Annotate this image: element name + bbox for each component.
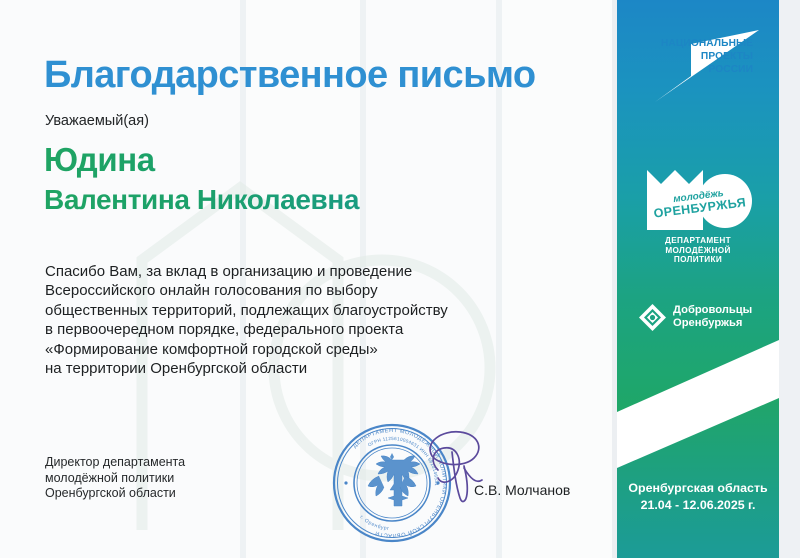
- page-title: Благодарственное письмо: [44, 54, 535, 97]
- greeting-text: Уважаемый(ая): [45, 113, 149, 129]
- body-text: Спасибо Вам, за вклад в организацию и пр…: [45, 262, 575, 378]
- branding-ribbon: НАЦИОНАЛЬНЫЕ ПРОЕКТЫ РОССИИ молодёжь ОРЕ…: [617, 0, 779, 558]
- footer-date-range: 21.04 - 12.06.2025 г.: [617, 497, 779, 514]
- mo-logo-caption: ДЕПАРТАМЕНТ МОЛОДЁЖНОЙ ПОЛИТИКИ: [617, 236, 779, 265]
- body-line: в первоочередном порядке, федерального п…: [45, 320, 575, 339]
- signer-role-line: Директор департамента: [45, 455, 185, 471]
- certificate-content: Благодарственное письмо Уважаемый(ая) Юд…: [0, 0, 617, 558]
- handwritten-signature-icon: [418, 424, 508, 514]
- mo-caption-line: ДЕПАРТАМЕНТ: [617, 236, 779, 246]
- signer-role: Директор департамента молодёжной политик…: [45, 455, 185, 502]
- np-line-2: ПРОЕКТЫ: [701, 51, 753, 62]
- np-line-1: НАЦИОНАЛЬНЫЕ: [661, 38, 753, 49]
- mo-caption-line: ПОЛИТИКИ: [617, 255, 779, 265]
- volunteers-logo-text: Добровольцы Оренбуржья: [673, 304, 752, 329]
- volunteers-line: Оренбуржья: [673, 317, 752, 330]
- recipient-surname: Юдина: [44, 140, 604, 180]
- body-line: Всероссийского онлайн голосования по выб…: [45, 281, 575, 300]
- footer-region: Оренбургская область: [617, 480, 779, 497]
- signer-role-line: молодёжной политики: [45, 471, 185, 487]
- recipient-fullname: Валентина Николаевна: [44, 180, 604, 220]
- signer-name: С.В. Молчанов: [474, 482, 570, 498]
- ribbon-bottom-segment: [617, 398, 779, 558]
- certificate-page: Благодарственное письмо Уважаемый(ая) Юд…: [0, 0, 800, 558]
- volunteers-logo: Добровольцы Оренбуржья: [639, 300, 761, 334]
- diamond-volunteers-icon: [639, 304, 666, 331]
- mo-monogram-icon: молодёжь ОРЕНБУРЖЬЯ: [645, 168, 753, 230]
- mo-caption-line: МОЛОДЁЖНОЙ: [617, 246, 779, 256]
- signer-role-line: Оренбургской области: [45, 486, 185, 502]
- body-line: Спасибо Вам, за вклад в организацию и пр…: [45, 262, 575, 281]
- background-band: [779, 0, 800, 558]
- ribbon-footer: Оренбургская область 21.04 - 12.06.2025 …: [617, 480, 779, 514]
- body-line: «Формирование комфортной городской среды…: [45, 340, 575, 359]
- recipient-block: Юдина Валентина Николаевна: [44, 140, 604, 220]
- national-projects-flag-icon: НАЦИОНАЛЬНЫЕ ПРОЕКТЫ РОССИИ: [633, 14, 765, 110]
- volunteers-line: Добровольцы: [673, 304, 752, 317]
- np-line-3: РОССИИ: [708, 64, 753, 75]
- body-line: общественных территорий, подлежащих благ…: [45, 301, 575, 320]
- body-line: на территории Оренбургской области: [45, 359, 575, 378]
